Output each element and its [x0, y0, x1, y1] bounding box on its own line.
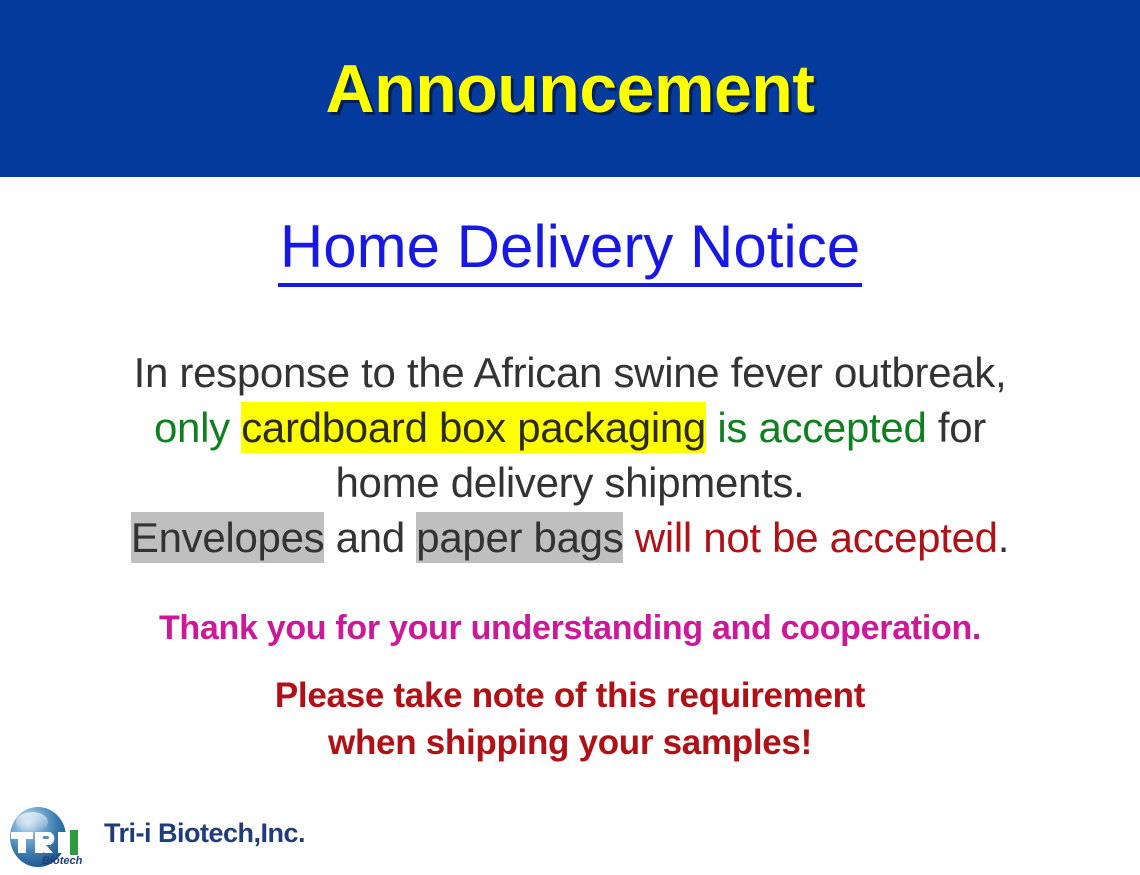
logo-wordmark: Tri-i Biotech,Inc.: [104, 820, 305, 847]
paragraph-line-3: home delivery shipments.: [0, 455, 1140, 510]
announcement-paragraph: In response to the African swine fever o…: [0, 345, 1140, 565]
text-segment-will-not-be-accepted: will not be accepted: [623, 514, 997, 561]
highlight-envelopes: Envelopes: [131, 512, 324, 563]
subtitle-container: Home Delivery Notice: [0, 215, 1140, 287]
notice-message: Please take note of this requirement whe…: [0, 672, 1140, 766]
notice-line-2: when shipping your samples!: [0, 719, 1140, 766]
text-segment-intro: In response to the African swine fever o…: [134, 349, 1007, 396]
svg-text:Biotech: Biotech: [42, 855, 83, 867]
highlight-cardboard-box-packaging: cardboard box packaging: [241, 402, 706, 453]
text-segment-and: and: [324, 514, 416, 561]
text-segment-home-delivery-shipments: home delivery shipments.: [335, 459, 804, 506]
notice-line-1: Please take note of this requirement: [0, 672, 1140, 719]
announcement-slide: Announcement Home Delivery Notice In res…: [0, 0, 1140, 875]
paragraph-line-4: Envelopes and paper bags will not be acc…: [0, 510, 1140, 565]
text-segment-is-accepted: is accepted: [706, 404, 927, 451]
subtitle-heading: Home Delivery Notice: [278, 215, 862, 287]
header-banner: Announcement: [0, 0, 1140, 177]
text-segment-only: only: [154, 404, 241, 451]
thank-you-message: Thank you for your understanding and coo…: [0, 609, 1140, 648]
paragraph-line-2: only cardboard box packaging is accepted…: [0, 400, 1140, 455]
company-logo: Biotech Tri-i Biotech,Inc.: [8, 806, 338, 868]
paragraph-line-1: In response to the African swine fever o…: [0, 345, 1140, 400]
page-title: Announcement: [326, 55, 815, 123]
text-segment-for: for: [927, 404, 986, 451]
tri-i-biotech-logo-icon: Biotech: [8, 806, 96, 868]
slide-body: Home Delivery Notice In response to the …: [0, 177, 1140, 875]
highlight-paper-bags: paper bags: [416, 512, 623, 563]
text-segment-final-period: .: [998, 514, 1009, 561]
